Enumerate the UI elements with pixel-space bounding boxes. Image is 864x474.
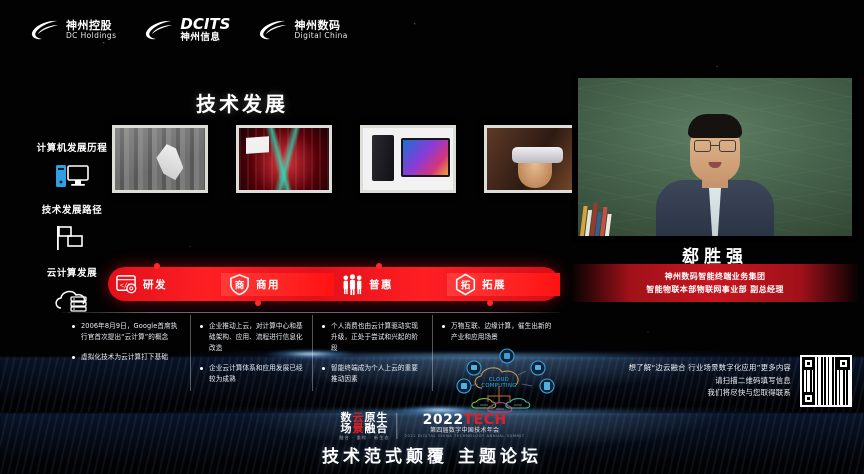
bullet-item: 个人消费也由云计算驱动实现升级，正处于尝试和兴起的阶段: [322, 321, 424, 354]
bookshelf-decor: [580, 202, 614, 236]
event-logo-subtitle: 融合 · 重构 · 新生态: [339, 436, 389, 440]
timeline-node: [255, 300, 261, 306]
photo-vintage-computer: [112, 125, 208, 193]
section-label-text: 技术发展路径: [28, 202, 116, 216]
section-label-text: 云计算发展: [28, 265, 116, 279]
bullet-item: 虚拟化技术为云计算打下基础: [72, 352, 182, 363]
photo-vr-headset: [484, 125, 580, 193]
timeline-stage-rd[interactable]: </> 研发: [108, 273, 221, 296]
timeline-node: [487, 300, 493, 306]
timeline-stage-inclusive[interactable]: 普惠: [334, 273, 447, 296]
logo-dc-holdings: 神州控股 DC Holdings: [30, 19, 116, 41]
qr-code[interactable]: [800, 355, 852, 407]
desktop-computer-icon: [28, 161, 116, 191]
speaker-portrait: [656, 116, 774, 236]
technology-timeline-bar: </> 研发 商 商用: [108, 267, 560, 301]
svg-text:拓: 拓: [461, 279, 471, 291]
photo-tianhe-supercomputer: [236, 125, 332, 193]
swoosh-icon: [30, 19, 60, 41]
logo-digital-china-en: Digital China: [294, 32, 347, 40]
logo-dcits-en: DCITS: [180, 17, 230, 33]
timeline-node: [376, 263, 382, 269]
bullet-column-3: 个人消费也由云计算驱动实现升级，正处于尝试和兴起的阶段 智能终端成为个人上云的重…: [312, 315, 432, 407]
bullet-column-2: 企业推动上云，对计算中心和基础架构、应用、流程进行信息化改造 企业云计算体系和应…: [190, 315, 312, 407]
timeline-stage-label: 拓展: [482, 277, 506, 292]
timeline-stage-commercial[interactable]: 商 商用: [221, 273, 334, 296]
svg-text:商: 商: [235, 279, 245, 291]
photo-strip: [112, 125, 558, 197]
timeline-stage-label: 研发: [143, 277, 167, 292]
speaker-title-banner: 神州数码智能终端业务集团 智能物联本部物联网事业部 副总经理: [572, 264, 858, 302]
timeline-node: [154, 263, 160, 269]
speaker-video-panel[interactable]: [572, 72, 858, 242]
cloud-server-icon: [28, 286, 116, 314]
event-logo-sub-en: 2022 DIGITAL CHINA TECHNOLOGY ANNUAL SUM…: [405, 435, 525, 439]
logo-dcits: DCITS 神州信息: [144, 17, 230, 43]
photo-desktop-pc: [360, 125, 456, 193]
swoosh-icon: [144, 19, 174, 41]
shield-shang-icon: 商: [228, 273, 251, 296]
timeline-stage-label: 普惠: [369, 277, 393, 292]
bullet-column-1: 2006年8月9日，Google首席执行官首次提出“云计算”的概念 虚拟化技术为…: [62, 315, 190, 407]
speaker-title-line-2: 智能物联本部物联网事业部 副总经理: [646, 284, 784, 295]
speaker-title-line-1: 神州数码智能终端业务集团: [665, 271, 766, 282]
swoosh-icon: [258, 19, 288, 41]
sponsor-logo-bar: 神州控股 DC Holdings DCITS 神州信息 神州数码 Digital…: [0, 0, 864, 60]
bullet-item: 企业推动上云，对计算中心和基础架构、应用、流程进行信息化改造: [200, 321, 304, 354]
presentation-stage: 神州控股 DC Holdings DCITS 神州信息 神州数码 Digital…: [0, 0, 864, 474]
bullet-item: 智能终端成为个人上云的重要推动因素: [322, 363, 424, 385]
timeline-stage-label: 商用: [256, 277, 280, 292]
section-label-computer-history: 计算机发展历程: [28, 140, 116, 191]
section-label-tech-path: 技术发展路径: [28, 202, 116, 251]
slide-title: 技术发展: [196, 88, 288, 117]
qr-line-3: 我们将尽快与您取得联系: [582, 387, 791, 400]
flag-path-icon: [28, 223, 116, 251]
event-logo-row2: 场景融合: [339, 423, 389, 434]
cloud-computing-network-diagram: CLOUD COMPUTING: [452, 344, 562, 414]
event-footer: 数云原生 场景融合 融合 · 重构 · 新生态 2022TECH 第四届数字中国…: [0, 408, 864, 474]
forum-title: 技术范式颠覆 主题论坛: [322, 442, 542, 467]
qr-call-to-action: 想了解“边云融合 行业场景数字化应用”更多内容 请扫描二维码填写信息 我们将尽快…: [582, 352, 852, 410]
event-logo: 数云原生 场景融合 融合 · 重构 · 新生态 2022TECH 第四届数字中国…: [339, 412, 524, 441]
speaker-video-feed[interactable]: [578, 78, 852, 236]
timeline-stage-expansion[interactable]: 拓 拓展: [447, 273, 560, 296]
people-group-icon: [341, 273, 364, 296]
event-logo-en: 2022TECH 第四届数字中国技术年会 2022 DIGITAL CHINA …: [405, 413, 525, 439]
slide-content: 技术发展 计算机发展历程 技术发展路径: [0, 62, 566, 362]
qr-line-2: 请扫描二维码填写信息: [582, 375, 791, 388]
event-logo-divider: [397, 413, 398, 439]
bullet-item: 企业云计算体系和应用发展已经较为成熟: [200, 363, 304, 385]
hex-tuo-icon: 拓: [454, 273, 477, 296]
code-gear-icon: </>: [115, 273, 138, 296]
event-logo-year-tech: 2022TECH: [405, 413, 525, 428]
logo-digital-china: 神州数码 Digital China: [258, 19, 347, 41]
section-label-text: 计算机发展历程: [28, 140, 116, 154]
logo-dc-holdings-en: DC Holdings: [66, 32, 116, 40]
qr-line-1: 想了解“边云融合 行业场景数字化应用”更多内容: [582, 362, 791, 375]
event-logo-cn: 数云原生 场景融合 融合 · 重构 · 新生态: [339, 412, 389, 441]
section-label-cloud-dev: 云计算发展: [28, 265, 116, 314]
eyeglasses-icon: [694, 140, 736, 152]
logo-dcits-cn: 神州信息: [180, 33, 230, 43]
svg-text:COMPUTING: COMPUTING: [481, 383, 516, 389]
bullet-item: 2006年8月9日，Google首席执行官首次提出“云计算”的概念: [72, 321, 182, 343]
bullet-item: 万物互联、边缘计算，催生出新的产业和应用场景: [442, 321, 552, 343]
qr-instruction-text: 想了解“边云融合 行业场景数字化应用”更多内容 请扫描二维码填写信息 我们将尽快…: [582, 362, 791, 401]
